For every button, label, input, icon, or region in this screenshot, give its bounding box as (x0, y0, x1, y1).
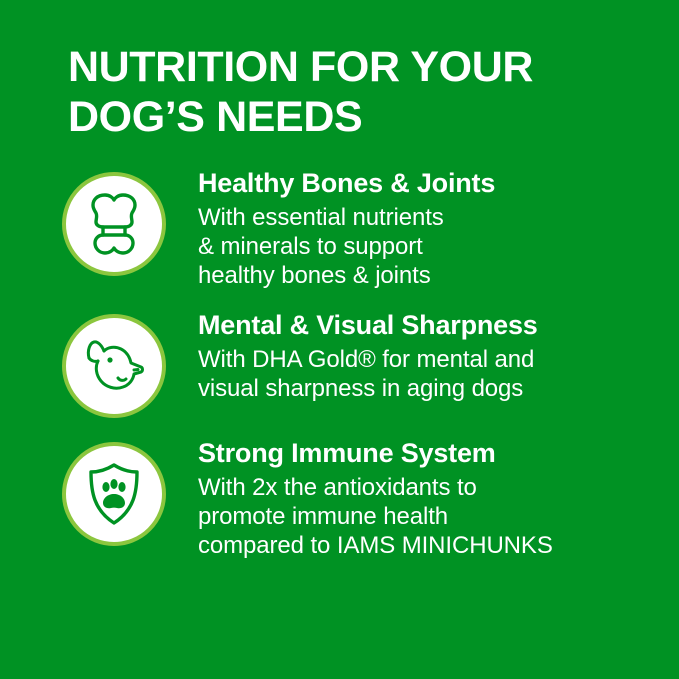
benefit-line: & minerals to support (198, 232, 659, 261)
benefit-title: Strong Immune System (198, 438, 659, 468)
benefit-line: With essential nutrients (198, 203, 659, 232)
benefit-title: Mental & Visual Sharpness (198, 310, 659, 340)
list-item: Strong Immune System With 2x the antioxi… (0, 438, 679, 560)
benefit-text: Mental & Visual Sharpness With DHA Gold®… (198, 310, 679, 403)
benefit-line: promote immune health (198, 502, 659, 531)
benefit-description: With 2x the antioxidants to promote immu… (198, 473, 659, 560)
page-title: NUTRITION FOR YOUR DOG’S NEEDS (68, 42, 628, 142)
benefit-description: With DHA Gold® for mental and visual sha… (198, 345, 659, 403)
list-item: Healthy Bones & Joints With essential nu… (0, 168, 679, 290)
benefit-icon-wrap (62, 314, 166, 418)
list-item: Mental & Visual Sharpness With DHA Gold®… (0, 310, 679, 418)
promo-panel: NUTRITION FOR YOUR DOG’S NEEDS Healthy B… (0, 0, 679, 679)
benefit-icon-wrap (62, 442, 166, 546)
benefit-line: visual sharpness in aging dogs (198, 374, 659, 403)
benefit-line: With 2x the antioxidants to (198, 473, 659, 502)
benefit-description: With essential nutrients & minerals to s… (198, 203, 659, 290)
dog-head-glyph (82, 338, 146, 394)
benefit-icon-wrap (62, 172, 166, 276)
benefit-text: Healthy Bones & Joints With essential nu… (198, 168, 679, 290)
shield-paw-icon (62, 442, 166, 546)
benefit-title: Healthy Bones & Joints (198, 168, 659, 198)
dog-head-icon (62, 314, 166, 418)
bone-joint-glyph (83, 191, 145, 257)
benefit-line: compared to IAMS MINICHUNKS (198, 531, 659, 560)
benefit-line: With DHA Gold® for mental and (198, 345, 659, 374)
benefit-text: Strong Immune System With 2x the antioxi… (198, 438, 679, 560)
shield-paw-glyph (86, 462, 142, 526)
bone-joint-icon (62, 172, 166, 276)
benefits-list: Healthy Bones & Joints With essential nu… (0, 168, 679, 574)
benefit-line: healthy bones & joints (198, 261, 659, 290)
